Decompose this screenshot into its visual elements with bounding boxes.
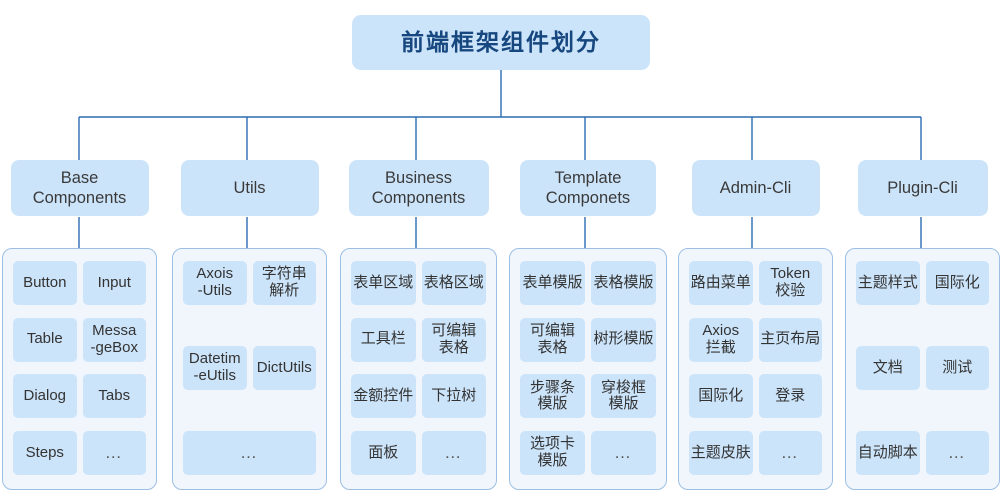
- chip-item[interactable]: 表单模版: [520, 261, 585, 305]
- chip-label: 表单模版: [522, 275, 582, 292]
- chip-row: …: [183, 431, 316, 475]
- chip-item[interactable]: 表单区域: [351, 261, 416, 305]
- column-admin-cli: Admin-Cli路由菜单Token 校验Axios 拦截主页布局国际化登录主题…: [678, 160, 833, 216]
- chip-more[interactable]: …: [422, 431, 487, 475]
- chip-item[interactable]: 树形模版: [591, 318, 656, 362]
- chip-label: Input: [98, 275, 131, 292]
- chip-row: 工具栏可编辑 表格: [351, 318, 486, 362]
- chip-label: 测试: [942, 360, 972, 377]
- chip-label: 主页布局: [760, 331, 820, 348]
- chip-label: DictUtils: [257, 360, 312, 377]
- column-card-plugin-cli: 主题样式国际化文档测试自动脚本…: [845, 248, 1000, 490]
- chip-rows: 路由菜单Token 校验Axios 拦截主页布局国际化登录主题皮肤…: [689, 261, 822, 475]
- column-header-template-componets[interactable]: Template Componets: [520, 160, 656, 216]
- chip-label: Tabs: [98, 388, 130, 405]
- chip-rows: ButtonInputTableMessa -geBoxDialogTabsSt…: [13, 261, 146, 475]
- chip-row: 面板…: [351, 431, 486, 475]
- column-header-label: Plugin-Cli: [881, 178, 964, 198]
- chip-item[interactable]: Dialog: [13, 374, 77, 418]
- chip-label: 可编辑 表格: [530, 323, 575, 357]
- chip-label: 穿梭框 模版: [601, 380, 646, 414]
- chip-row: 国际化登录: [689, 374, 822, 418]
- column-card-utils: Axois -Utils字符串 解析Datetim -eUtilsDictUti…: [172, 248, 327, 490]
- chip-row: 自动脚本…: [856, 431, 989, 475]
- chip-label: Dialog: [23, 388, 66, 405]
- chip-label: 自动脚本: [858, 445, 918, 462]
- chip-more[interactable]: …: [183, 431, 316, 475]
- chip-item[interactable]: 主题皮肤: [689, 431, 753, 475]
- diagram-canvas: 前端框架组件划分 Base ComponentsButtonInputTable…: [0, 0, 1000, 503]
- chip-label: 树形模版: [593, 331, 653, 348]
- chip-label: Steps: [26, 445, 64, 462]
- chip-label: 下拉树: [431, 388, 476, 405]
- column-card-admin-cli: 路由菜单Token 校验Axios 拦截主页布局国际化登录主题皮肤…: [678, 248, 833, 490]
- chip-label: 工具栏: [361, 331, 406, 348]
- chip-item[interactable]: Axois -Utils: [183, 261, 247, 305]
- chip-more[interactable]: …: [759, 431, 823, 475]
- chip-item[interactable]: 表格模版: [591, 261, 656, 305]
- chip-item[interactable]: 登录: [759, 374, 823, 418]
- chip-label: …: [614, 443, 633, 462]
- chip-label: 步骤条 模版: [530, 380, 575, 414]
- column-card-template-componets: 表单模版表格模版可编辑 表格树形模版步骤条 模版穿梭框 模版选项卡 模版…: [509, 248, 667, 490]
- chip-item[interactable]: 测试: [926, 346, 990, 390]
- column-business-components: Business Components表单区域表格区域工具栏可编辑 表格金额控件…: [340, 160, 497, 216]
- chip-item[interactable]: 金额控件: [351, 374, 416, 418]
- column-header-business-components[interactable]: Business Components: [349, 160, 489, 216]
- chip-item[interactable]: Messa -geBox: [83, 318, 147, 362]
- column-utils: UtilsAxois -Utils字符串 解析Datetim -eUtilsDi…: [172, 160, 327, 216]
- column-header-label: Admin-Cli: [714, 178, 798, 198]
- chip-rows: 表单模版表格模版可编辑 表格树形模版步骤条 模版穿梭框 模版选项卡 模版…: [520, 261, 656, 475]
- chip-item[interactable]: Axios 拦截: [689, 318, 753, 362]
- chip-item[interactable]: 国际化: [926, 261, 990, 305]
- chip-label: Messa -geBox: [90, 323, 138, 357]
- chip-item[interactable]: 主题样式: [856, 261, 920, 305]
- chip-item[interactable]: 国际化: [689, 374, 753, 418]
- chip-label: …: [105, 443, 124, 462]
- chip-label: …: [948, 443, 967, 462]
- chip-item[interactable]: 自动脚本: [856, 431, 920, 475]
- chip-rows: 表单区域表格区域工具栏可编辑 表格金额控件下拉树面板…: [351, 261, 486, 475]
- chip-row: Datetim -eUtilsDictUtils: [183, 346, 316, 390]
- chip-row: Steps…: [13, 431, 146, 475]
- chip-label: 登录: [775, 388, 805, 405]
- chip-row: DialogTabs: [13, 374, 146, 418]
- root-node-label: 前端框架组件划分: [401, 29, 601, 57]
- chip-row: Axois -Utils字符串 解析: [183, 261, 316, 305]
- chip-item[interactable]: 面板: [351, 431, 416, 475]
- chip-row: 表单区域表格区域: [351, 261, 486, 305]
- chip-item[interactable]: 工具栏: [351, 318, 416, 362]
- chip-item[interactable]: 下拉树: [422, 374, 487, 418]
- chip-label: 字符串 解析: [262, 266, 307, 300]
- chip-row: 主题皮肤…: [689, 431, 822, 475]
- chip-label: Datetim -eUtils: [189, 351, 241, 385]
- chip-row: 可编辑 表格树形模版: [520, 318, 656, 362]
- column-header-label: Base Components: [27, 168, 133, 208]
- chip-label: 主题样式: [858, 275, 918, 292]
- column-header-utils[interactable]: Utils: [181, 160, 319, 216]
- chip-label: Button: [23, 275, 66, 292]
- chip-row: 路由菜单Token 校验: [689, 261, 822, 305]
- chip-row: 主题样式国际化: [856, 261, 989, 305]
- chip-label: 可编辑 表格: [431, 323, 476, 357]
- chip-item[interactable]: Tabs: [83, 374, 147, 418]
- chip-item[interactable]: 步骤条 模版: [520, 374, 585, 418]
- chip-label: …: [781, 443, 800, 462]
- column-plugin-cli: Plugin-Cli主题样式国际化文档测试自动脚本…: [845, 160, 1000, 216]
- chip-label: 国际化: [935, 275, 980, 292]
- chip-more[interactable]: …: [926, 431, 990, 475]
- chip-label: 金额控件: [353, 388, 413, 405]
- chip-row: ButtonInput: [13, 261, 146, 305]
- chip-row: 表单模版表格模版: [520, 261, 656, 305]
- column-header-admin-cli[interactable]: Admin-Cli: [692, 160, 820, 216]
- chip-label: 表格模版: [593, 275, 653, 292]
- chip-rows: 主题样式国际化文档测试自动脚本…: [856, 261, 989, 475]
- chip-item[interactable]: 表格区域: [422, 261, 487, 305]
- chip-item[interactable]: 路由菜单: [689, 261, 753, 305]
- chip-item[interactable]: DictUtils: [253, 346, 317, 390]
- chip-rows: Axois -Utils字符串 解析Datetim -eUtilsDictUti…: [183, 261, 316, 475]
- chip-label: Table: [27, 331, 63, 348]
- column-header-base-components[interactable]: Base Components: [11, 160, 149, 216]
- chip-item[interactable]: 可编辑 表格: [520, 318, 585, 362]
- chip-row: Axios 拦截主页布局: [689, 318, 822, 362]
- chip-label: 表格区域: [424, 275, 484, 292]
- chip-item[interactable]: Token 校验: [759, 261, 823, 305]
- column-header-plugin-cli[interactable]: Plugin-Cli: [858, 160, 988, 216]
- column-header-label: Template Componets: [540, 168, 636, 208]
- column-card-base-components: ButtonInputTableMessa -geBoxDialogTabsSt…: [2, 248, 157, 490]
- chip-label: Token 校验: [770, 266, 810, 300]
- column-header-label: Business Components: [366, 168, 472, 208]
- chip-item[interactable]: Button: [13, 261, 77, 305]
- chip-label: Axois -Utils: [196, 266, 233, 300]
- chip-label: Axios 拦截: [702, 323, 739, 357]
- chip-item[interactable]: 主页布局: [759, 318, 823, 362]
- chip-label: 文档: [873, 360, 903, 377]
- chip-item[interactable]: 字符串 解析: [253, 261, 317, 305]
- chip-item[interactable]: 穿梭框 模版: [591, 374, 656, 418]
- chip-more[interactable]: …: [83, 431, 147, 475]
- chip-row: 选项卡 模版…: [520, 431, 656, 475]
- chip-label: …: [240, 443, 259, 462]
- chip-label: 路由菜单: [691, 275, 751, 292]
- column-header-label: Utils: [227, 178, 271, 198]
- column-card-business-components: 表单区域表格区域工具栏可编辑 表格金额控件下拉树面板…: [340, 248, 497, 490]
- chip-label: 面板: [368, 445, 398, 462]
- chip-row: 文档测试: [856, 346, 989, 390]
- chip-item[interactable]: Datetim -eUtils: [183, 346, 247, 390]
- column-template-componets: Template Componets表单模版表格模版可编辑 表格树形模版步骤条 …: [509, 160, 667, 216]
- chip-more[interactable]: …: [591, 431, 656, 475]
- chip-label: …: [444, 443, 463, 462]
- chip-row: 步骤条 模版穿梭框 模版: [520, 374, 656, 418]
- chip-item[interactable]: 选项卡 模版: [520, 431, 585, 475]
- chip-label: 国际化: [698, 388, 743, 405]
- chip-label: 选项卡 模版: [530, 436, 575, 470]
- column-base-components: Base ComponentsButtonInputTableMessa -ge…: [2, 160, 157, 216]
- chip-item[interactable]: 可编辑 表格: [422, 318, 487, 362]
- chip-item[interactable]: 文档: [856, 346, 920, 390]
- chip-label: 表单区域: [353, 275, 413, 292]
- chip-row: TableMessa -geBox: [13, 318, 146, 362]
- chip-row: 金额控件下拉树: [351, 374, 486, 418]
- chip-item[interactable]: Steps: [13, 431, 77, 475]
- chip-label: 主题皮肤: [691, 445, 751, 462]
- root-node: 前端框架组件划分: [352, 15, 650, 70]
- chip-item[interactable]: Table: [13, 318, 77, 362]
- chip-item[interactable]: Input: [83, 261, 147, 305]
